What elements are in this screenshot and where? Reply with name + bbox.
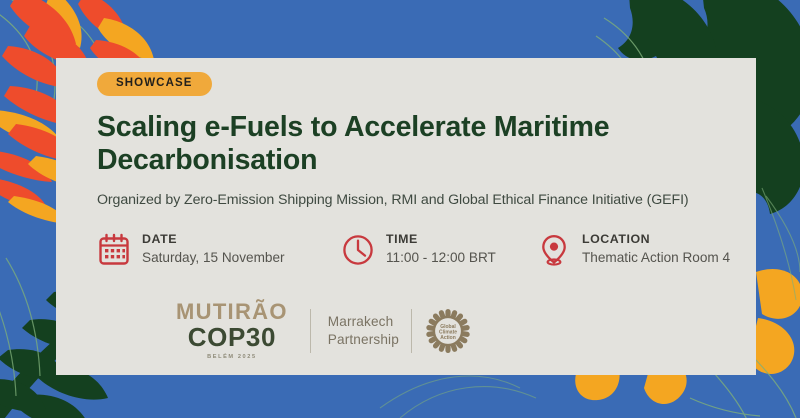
poster-canvas: SHOWCASE Scaling e-Fuels to Accelerate M… <box>0 0 800 418</box>
marrakech-line-1: Marrakech <box>328 313 399 331</box>
logo-divider-2 <box>411 309 412 353</box>
detail-value-time: 11:00 - 12:00 BRT <box>386 249 496 267</box>
emblem-text-3: Action <box>440 335 456 341</box>
detail-time: TIME 11:00 - 12:00 BRT <box>341 232 537 268</box>
clock-icon <box>341 232 375 268</box>
detail-value-date: Saturday, 15 November <box>142 249 285 267</box>
detail-location: LOCATION Thematic Action Room 4 <box>537 232 730 268</box>
detail-label-time: TIME <box>386 232 496 248</box>
detail-label-date: DATE <box>142 232 285 248</box>
event-card: SHOWCASE Scaling e-Fuels to Accelerate M… <box>56 58 756 375</box>
marrakech-partnership-logo: Marrakech Partnership <box>328 313 399 349</box>
calendar-icon <box>97 232 131 268</box>
map-pin-icon <box>537 232 571 268</box>
cop30-logo-name: COP30 <box>176 324 288 351</box>
cop30-logo: MUTIRÃO COP30 BELÉM 2025 <box>176 301 288 361</box>
status-badge: SHOWCASE <box>97 72 212 96</box>
page-title: Scaling e-Fuels to Accelerate Maritime D… <box>97 111 697 179</box>
logo-bar: MUTIRÃO COP30 BELÉM 2025 Marrakech Partn… <box>176 301 472 361</box>
cop30-logo-mutirao: MUTIRÃO <box>176 301 288 323</box>
event-details-row: DATE Saturday, 15 November TIME 11:0 <box>97 232 736 268</box>
logo-divider <box>310 309 311 353</box>
marrakech-line-2: Partnership <box>328 331 399 349</box>
cop30-logo-place-year: BELÉM 2025 <box>176 355 288 361</box>
organizers-text: Organized by Zero-Emission Shipping Miss… <box>97 191 736 209</box>
detail-label-location: LOCATION <box>582 232 730 248</box>
detail-date: DATE Saturday, 15 November <box>97 232 341 268</box>
detail-value-location: Thematic Action Room 4 <box>582 249 730 267</box>
line-doodle-bottom <box>380 376 536 418</box>
global-climate-action-emblem: Global Climate Action <box>424 307 472 355</box>
